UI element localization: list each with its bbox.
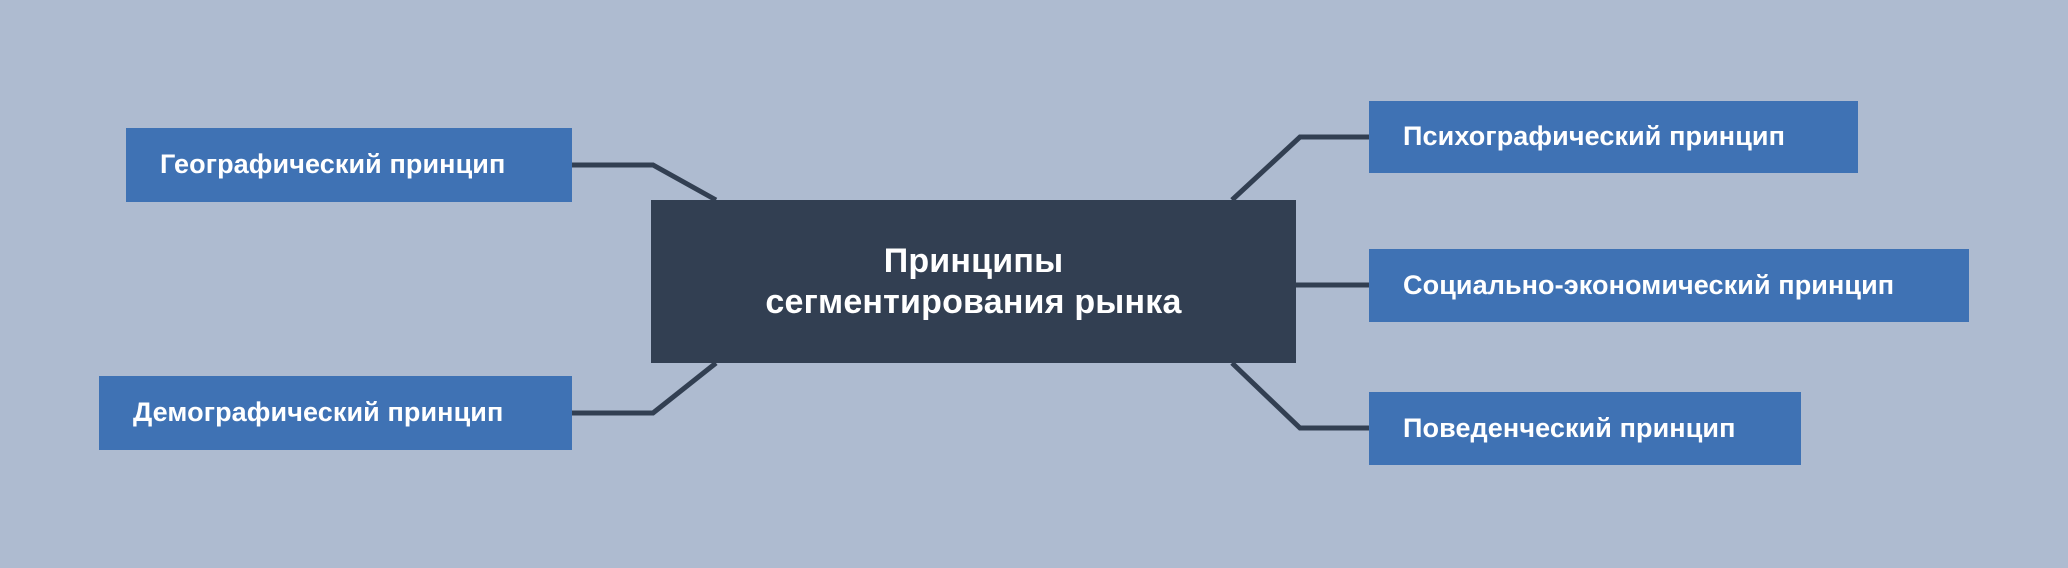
center-node-title: Принципы сегментирования рынка — [765, 241, 1181, 321]
market-segmentation-mind-map: Географический принцип Демографический п… — [0, 0, 2068, 568]
connector-psychographic — [1232, 137, 1369, 200]
branch-label-demographic: Демографический принцип — [133, 397, 503, 429]
center-node-market-segmentation-principles[interactable]: Принципы сегментирования рынка — [651, 200, 1296, 363]
branch-node-demographic[interactable]: Демографический принцип — [99, 376, 572, 450]
connector-demographic — [572, 363, 716, 413]
branch-label-psychographic: Психографический принцип — [1403, 121, 1785, 153]
branch-label-socioeconomic: Социально-экономический принцип — [1403, 270, 1894, 302]
connector-behavioral — [1232, 363, 1369, 428]
branch-node-psychographic[interactable]: Психографический принцип — [1369, 101, 1858, 173]
branch-label-behavioral: Поведенческий принцип — [1403, 413, 1736, 445]
branch-node-behavioral[interactable]: Поведенческий принцип — [1369, 392, 1801, 465]
branch-label-geographic: Географический принцип — [160, 149, 505, 181]
branch-node-socioeconomic[interactable]: Социально-экономический принцип — [1369, 249, 1969, 322]
branch-node-geographic[interactable]: Географический принцип — [126, 128, 572, 202]
connector-geographic-elbow — [572, 165, 716, 200]
